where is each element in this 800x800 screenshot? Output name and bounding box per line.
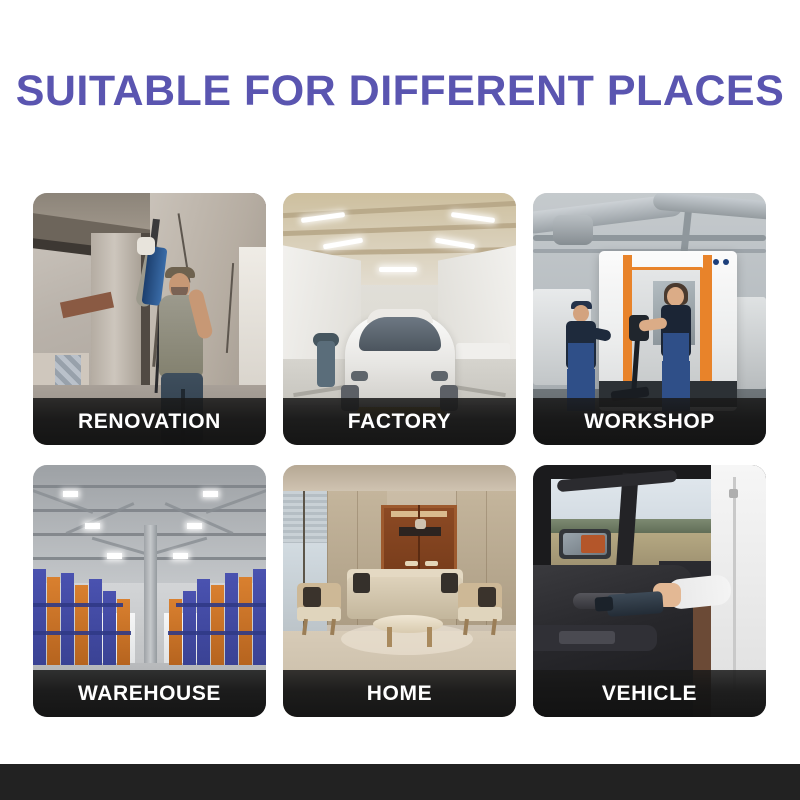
window-switches: [559, 631, 615, 644]
warehouse-lamp: [85, 523, 100, 529]
armchair-pillow: [478, 587, 496, 607]
doorway: [239, 247, 266, 397]
bottom-strip: [0, 764, 800, 800]
car-headlight: [431, 371, 448, 381]
brand-logo-dot: [723, 259, 729, 265]
armchair-pillow: [303, 587, 321, 607]
rack-upright: [61, 573, 74, 665]
roof-truss: [33, 509, 266, 512]
ceiling: [283, 465, 516, 491]
place-card-vehicle[interactable]: VEHICLE: [533, 465, 766, 717]
caption-label: WORKSHOP: [584, 411, 715, 432]
caption-label: FACTORY: [348, 411, 451, 432]
armchair-leg: [463, 619, 469, 635]
door-handle: [425, 561, 438, 566]
jacket-zipper: [733, 477, 736, 689]
brand-logo-dot: [713, 259, 719, 265]
rack-upright: [75, 585, 88, 665]
place-card-home[interactable]: HOME: [283, 465, 516, 717]
warehouse-lamp: [63, 491, 78, 497]
warehouse-lamp: [203, 491, 218, 497]
caption-label: VEHICLE: [602, 683, 697, 704]
background-machine: [732, 297, 766, 389]
place-card-renovation[interactable]: RENOVATION: [33, 193, 266, 445]
armchair-right: [458, 583, 502, 633]
place-card-warehouse[interactable]: WAREHOUSE: [33, 465, 266, 717]
rack-upright: [33, 569, 46, 665]
rack-shelf: [176, 603, 266, 607]
worker-left-head: [573, 305, 589, 322]
work-glove: [137, 237, 155, 255]
rack-shelf: [33, 631, 131, 635]
roof-truss: [33, 485, 266, 488]
promo-banner: SUITABLE FOR DIFFERENT PLACES: [0, 0, 800, 800]
rack-upright: [89, 579, 102, 665]
worker-left-overalls: [568, 343, 594, 371]
zipper-pull: [729, 489, 738, 498]
robot-arm: [317, 341, 335, 387]
pallet-racking-right: [160, 569, 266, 665]
armchair-leg: [330, 619, 336, 635]
vacuum-nozzle: [595, 596, 614, 611]
caption-bar-factory: FACTORY: [283, 398, 516, 445]
worker-right-head: [667, 287, 684, 306]
place-card-factory[interactable]: FACTORY: [283, 193, 516, 445]
armchair-left: [297, 583, 341, 633]
rack-upright: [253, 569, 266, 665]
warehouse-lamp: [187, 523, 202, 529]
ceiling-lamp: [379, 267, 417, 272]
caption-bar-workshop: WORKSHOP: [533, 398, 766, 445]
rack-upright: [47, 577, 60, 665]
machine-post: [703, 255, 712, 387]
table-leg: [427, 627, 432, 647]
places-grid: RENOVATION: [33, 193, 766, 698]
duct-cylinder: [553, 215, 593, 245]
reflected-car: [581, 535, 605, 553]
throw-pillow: [441, 573, 458, 593]
rack-shelf: [168, 631, 266, 635]
page-title: SUITABLE FOR DIFFERENT PLACES: [0, 66, 800, 116]
support-column: [144, 525, 157, 663]
rack-upright: [239, 577, 252, 665]
door-handle: [405, 561, 418, 566]
warehouse-lamp: [173, 553, 188, 559]
decor-vase: [415, 519, 426, 529]
place-card-workshop[interactable]: WORKSHOP: [533, 193, 766, 445]
caption-label: HOME: [367, 683, 432, 704]
caption-bar-vehicle: VEHICLE: [533, 670, 766, 717]
caption-bar-warehouse: WAREHOUSE: [33, 670, 266, 717]
rack-shelf: [33, 603, 123, 607]
handheld-vacuum: [606, 591, 663, 617]
table-leg: [387, 627, 392, 647]
throw-pillow: [353, 573, 370, 593]
caption-label: WAREHOUSE: [78, 683, 221, 704]
worker-right-overalls: [663, 333, 689, 363]
coffee-table: [373, 615, 443, 633]
caption-label: RENOVATION: [78, 411, 221, 432]
rack-upright: [225, 573, 238, 665]
car-headlight: [351, 371, 368, 381]
tile-patch: [55, 355, 81, 389]
armchair-leg: [491, 619, 497, 635]
rack-upright: [211, 585, 224, 665]
pallet-racking-left: [33, 569, 139, 665]
caption-bar-home: HOME: [283, 670, 516, 717]
window-blind: [283, 491, 327, 543]
caption-bar-renovation: RENOVATION: [33, 398, 266, 445]
car-windshield: [359, 317, 441, 351]
armchair-leg: [302, 619, 308, 635]
warehouse-lamp: [107, 553, 122, 559]
rack-upright: [197, 579, 210, 665]
